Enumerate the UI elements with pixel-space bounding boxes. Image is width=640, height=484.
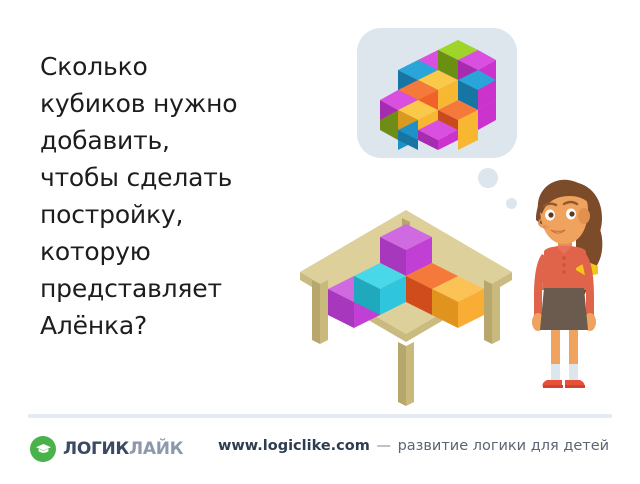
question-text: Сколько кубиков нужно добавить, чтобы сд… — [40, 48, 320, 344]
shoe-sole-right — [565, 385, 585, 388]
question-line: постройку, — [40, 196, 320, 233]
shoe-sole-left — [543, 385, 563, 388]
tagline-text: развитие логики для детей — [398, 438, 610, 454]
shirt-button — [562, 270, 565, 273]
question-line: представляет — [40, 270, 320, 307]
footer-divider — [28, 414, 612, 418]
table-with-cubes — [290, 192, 522, 412]
question-line: чтобы сделать — [40, 159, 320, 196]
question-line: кубиков нужно — [40, 85, 320, 122]
question-line: Алёнка? — [40, 307, 320, 344]
table-leg-front — [398, 342, 414, 406]
skirt — [540, 288, 588, 330]
question-line: Сколько — [40, 48, 320, 85]
graduation-cap-icon — [30, 436, 56, 462]
thought-bubble-dot-large — [478, 168, 498, 188]
sock-left — [551, 364, 560, 382]
site-url[interactable]: www.logiclike.com — [218, 438, 370, 454]
em-dash: — — [374, 438, 393, 454]
shirt-button — [562, 263, 565, 266]
shirt-button — [562, 256, 565, 259]
brand-word-bold: ЛОГИК — [63, 439, 129, 459]
ear — [578, 208, 590, 224]
slide-canvas: Сколько кубиков нужно добавить, чтобы сд… — [0, 0, 640, 484]
sock-right — [569, 364, 578, 382]
table-leg-left — [312, 280, 328, 344]
pupil-left — [548, 212, 553, 217]
footer-tagline: www.logiclike.com — развитие логики для … — [218, 438, 609, 454]
brand-wordmark: ЛОГИКЛАЙК — [63, 439, 183, 459]
question-line: которую — [40, 233, 320, 270]
imagined-cube-structure — [380, 38, 496, 150]
logiclike-logo[interactable]: ЛОГИКЛАЙК — [30, 436, 183, 462]
cheek-blush — [542, 225, 550, 230]
girl-character-alyonka — [518, 170, 624, 396]
question-line: добавить, — [40, 122, 320, 159]
pupil-right — [569, 211, 574, 216]
table-leg-right — [484, 280, 500, 344]
brand-word-light: ЛАЙК — [129, 439, 183, 459]
